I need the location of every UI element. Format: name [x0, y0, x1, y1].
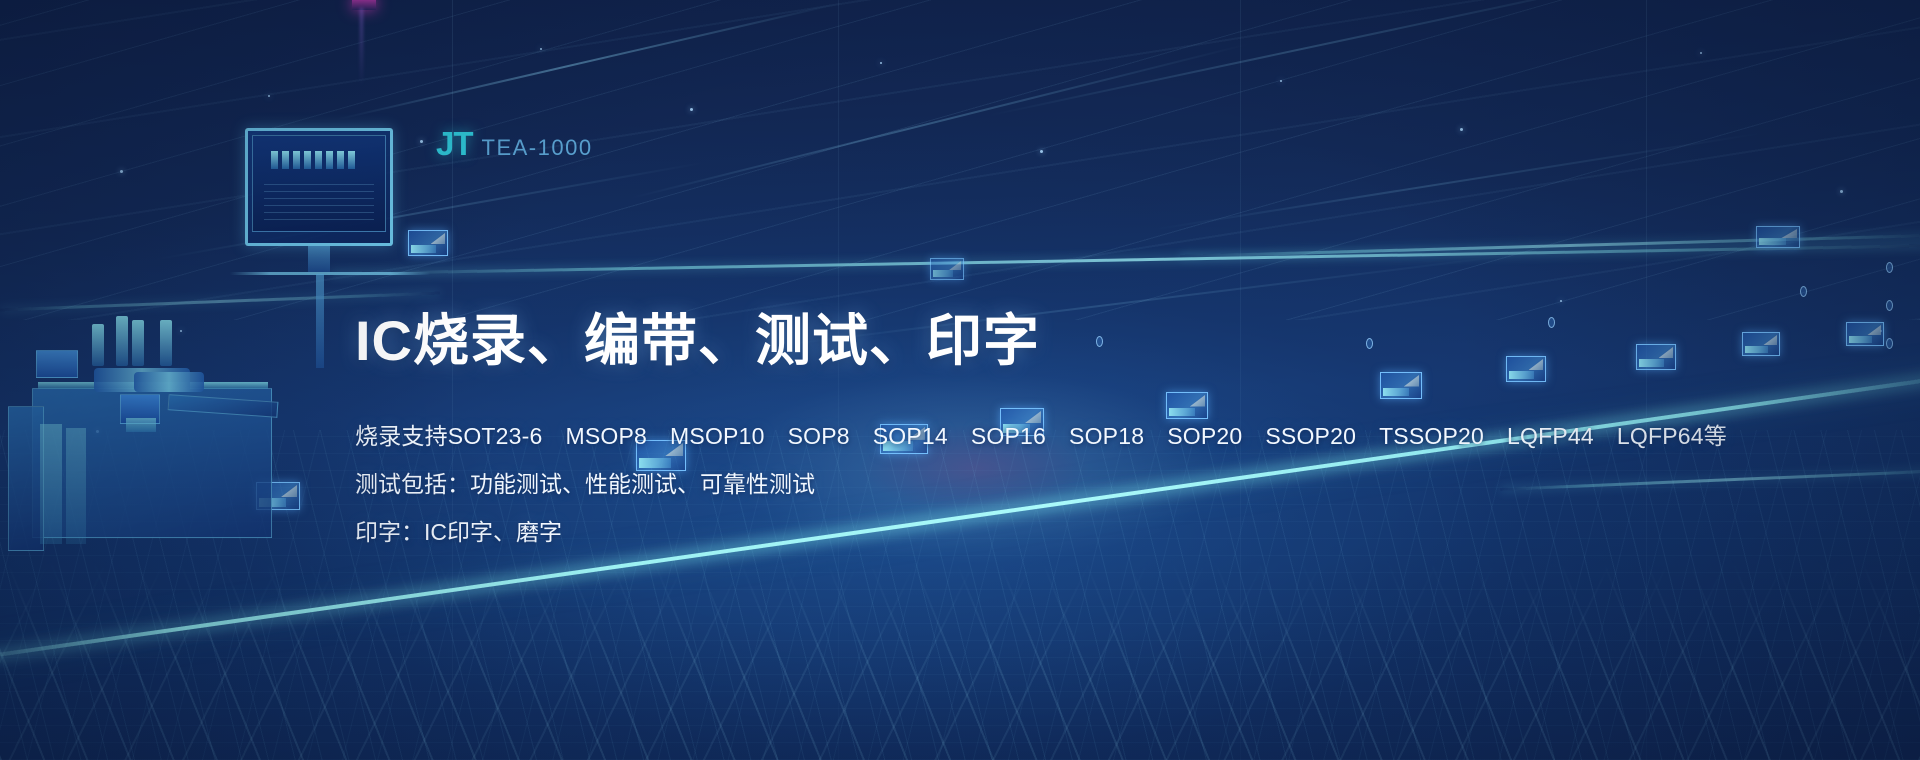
magenta-light-beam: [360, 8, 363, 86]
monitor-post: [316, 274, 324, 368]
bead: [1886, 262, 1893, 273]
monitor-bar-graph: [271, 151, 355, 169]
particle: [1560, 300, 1562, 302]
floor-grid-overlay: [0, 560, 1920, 760]
package-ssop20: SSOP20: [1265, 423, 1356, 449]
particle: [690, 108, 693, 111]
monitor-screen: [252, 135, 386, 232]
machine-cabinet: [8, 406, 44, 551]
chip-sprite: [1742, 332, 1780, 356]
package-lqfp64: LQFP64等: [1617, 423, 1727, 449]
chip-sprite: [1166, 392, 1208, 419]
package-sop16: SOP16: [971, 423, 1046, 449]
chip-sprite: [1636, 344, 1676, 370]
machine-box: [36, 350, 78, 378]
particle: [1700, 52, 1702, 54]
particle: [420, 140, 423, 143]
chip-sprite: [1756, 226, 1800, 248]
hero-copy: IC烧录、编带、测试、印字 烧录支持SOT23-6MSOP8MSOP10SOP8…: [355, 310, 1595, 373]
chip-sprite: [1846, 322, 1884, 346]
machine-feeder: [126, 418, 156, 432]
jt-logo-model: TEA-1000: [482, 135, 593, 161]
particle: [1040, 150, 1043, 153]
chip-sprite: [1380, 372, 1422, 399]
package-msop10: MSOP10: [670, 423, 765, 449]
page-title: IC烧录、编带、测试、印字: [355, 310, 1595, 373]
pillar: [838, 0, 839, 760]
bead: [1800, 286, 1807, 297]
particle: [1280, 80, 1282, 82]
particle: [880, 62, 882, 64]
chip-sprite: [408, 230, 448, 256]
pillar: [1240, 0, 1241, 760]
burn-support-prefix: 烧录支持SOT23-6: [355, 423, 543, 449]
magenta-indicator: [352, 0, 376, 10]
particle: [540, 48, 542, 50]
machine-panel: [40, 424, 62, 544]
operator-monitor: [245, 128, 393, 246]
package-tssop20: TSSOP20: [1379, 423, 1484, 449]
jt-logo: JT TEA-1000: [436, 125, 593, 163]
machine-rod: [92, 324, 104, 366]
monitor-mount-arm: [230, 272, 430, 275]
marking-line: 印字：IC印字、磨字: [355, 521, 562, 544]
package-sop20: SOP20: [1167, 423, 1242, 449]
machine-rod: [116, 316, 128, 366]
particle: [1840, 190, 1843, 193]
package-sop14: SOP14: [873, 423, 948, 449]
pillar: [1646, 0, 1647, 760]
jt-logo-mark: JT: [436, 125, 473, 163]
monitor-data-rows: [264, 182, 375, 220]
bead: [1886, 300, 1893, 311]
particle: [1460, 128, 1463, 131]
machine-rod: [132, 320, 144, 366]
chip-sprite: [930, 258, 964, 280]
machine-rod: [160, 320, 172, 366]
particle: [120, 170, 123, 173]
pillar: [452, 0, 453, 760]
package-msop8: MSOP8: [566, 423, 648, 449]
package-lqfp44: LQFP44: [1507, 423, 1594, 449]
bead: [1886, 338, 1893, 349]
machinery-cluster: [8, 268, 308, 558]
package-sop18: SOP18: [1069, 423, 1144, 449]
machine-panel: [66, 428, 86, 544]
package-sop8: SOP8: [788, 423, 850, 449]
burn-support-line: 烧录支持SOT23-6MSOP8MSOP10SOP8SOP14SOP16SOP1…: [355, 425, 1727, 448]
monitor-stand: [308, 246, 330, 272]
particle: [268, 95, 270, 97]
machine-cylinder: [134, 372, 204, 392]
hero-banner: IC烧录、编带、测试、印字 烧录支持SOT23-6MSOP8MSOP10SOP8…: [0, 0, 1920, 760]
test-scope-line: 测试包括：功能测试、性能测试、可靠性测试: [355, 473, 815, 496]
